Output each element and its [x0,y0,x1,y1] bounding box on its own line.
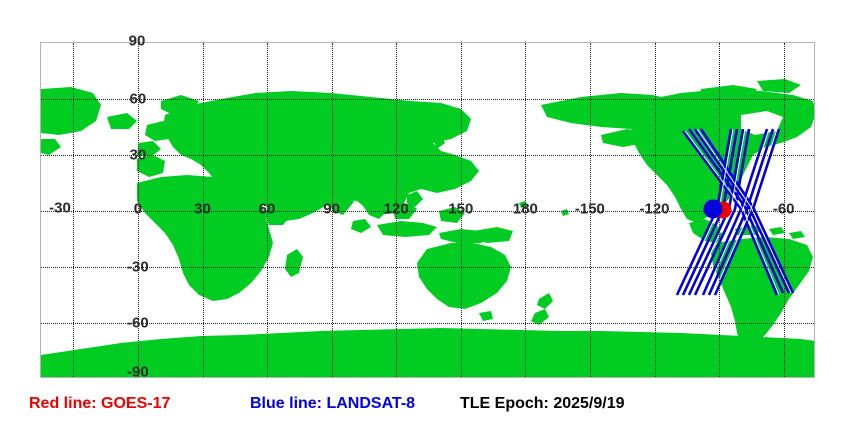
legend-goes17: Red line: GOES-17 [29,396,170,412]
legend: Red line: GOES-17 Blue line: LANDSAT-8 T… [0,392,850,422]
world-map[interactable]: 0 30 60 90 120 150 180 -150 -120 -90 -60… [40,42,815,378]
satellite-ground-track-page: 0 30 60 90 120 150 180 -150 -120 -90 -60… [0,0,850,425]
legend-landsat8: Blue line: LANDSAT-8 [250,396,415,412]
legend-tle-epoch: TLE Epoch: 2025/9/19 [460,396,625,412]
landsat8-marker[interactable] [704,200,723,219]
map-graphics [41,43,815,378]
